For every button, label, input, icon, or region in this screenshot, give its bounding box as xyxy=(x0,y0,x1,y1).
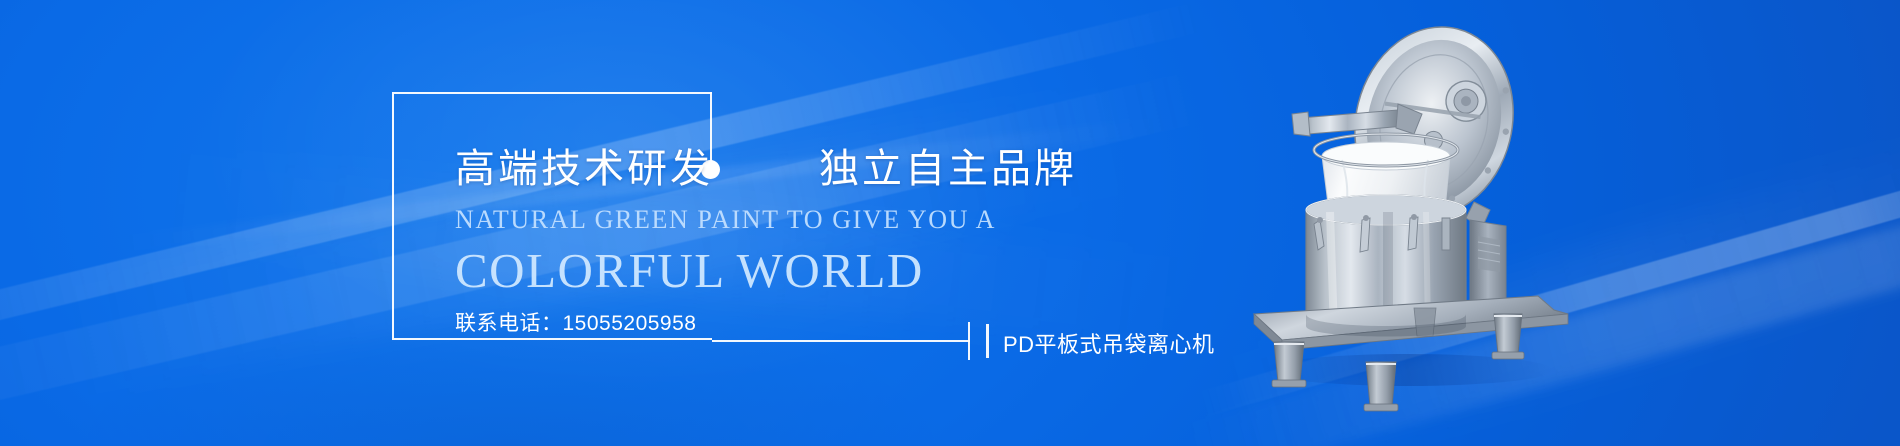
headline: 高端技术研发 独立自主品牌 xyxy=(455,136,1077,194)
caption-connector-line xyxy=(712,340,970,342)
headline-left: 高端技术研发 xyxy=(455,136,713,194)
bigline-english: COLORFUL WORLD xyxy=(455,242,924,299)
caption-connector-tick xyxy=(968,322,970,360)
subline-english: NATURAL GREEN PAINT TO GIVE YOU A xyxy=(455,205,996,235)
product-caption: PD平板式吊袋离心机 xyxy=(1003,327,1215,359)
headline-right: 独立自主品牌 xyxy=(819,136,1077,194)
contact-phone[interactable]: 联系电话：15055205958 xyxy=(455,307,696,337)
caption-accent-bar xyxy=(986,324,989,358)
product-image-centrifuge: GR 谷雨机械 Guyu Machine xyxy=(1238,14,1598,434)
promo-banner: 高端技术研发 独立自主品牌 NATURAL GREEN PAINT TO GIV… xyxy=(0,0,1900,446)
